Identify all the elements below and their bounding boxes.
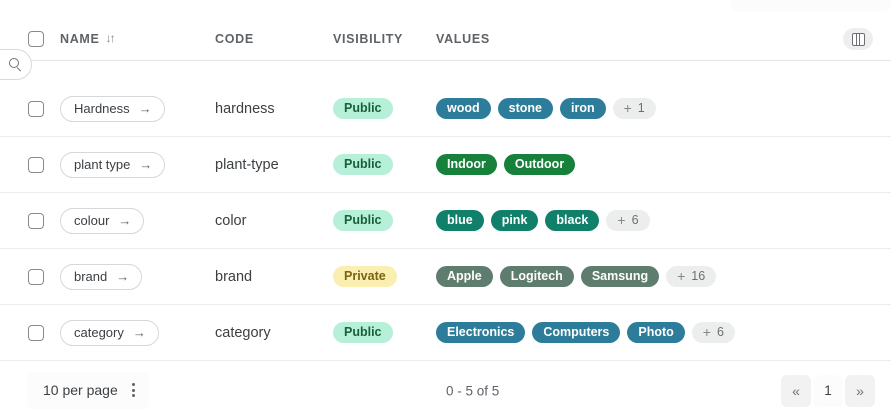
value-tag[interactable]: pink (491, 210, 539, 231)
more-values-chip[interactable]: +6 (606, 210, 649, 231)
name-chip-label: category (74, 325, 124, 340)
plus-icon: + (624, 101, 632, 115)
more-values-count: 6 (632, 213, 639, 227)
columns-icon (852, 33, 865, 46)
header-label-visibility: VISIBILITY (333, 32, 403, 46)
row-select-cell (0, 157, 60, 173)
value-tag[interactable]: iron (560, 98, 606, 119)
value-tag[interactable]: Outdoor (504, 154, 575, 175)
cell-name: Hardness→ (60, 96, 215, 122)
arrow-right-icon: → (116, 270, 129, 283)
row-select-cell (0, 269, 60, 285)
name-chip-button[interactable]: colour→ (60, 208, 144, 234)
header-label-name: NAME (60, 32, 100, 46)
cell-values: ElectronicsComputersPhoto+6 (436, 322, 891, 343)
table-row[interactable]: plant type→plant-typePublicIndoorOutdoor (0, 137, 891, 193)
cell-values: woodstoneiron+1 (436, 98, 891, 119)
visibility-badge: Public (333, 322, 393, 343)
more-values-chip[interactable]: +16 (666, 266, 716, 287)
cell-name: plant type→ (60, 152, 215, 178)
search-strip (0, 60, 891, 81)
row-checkbox[interactable] (28, 101, 44, 117)
row-select-cell (0, 213, 60, 229)
more-values-count: 1 (638, 101, 645, 115)
arrow-right-icon: → (139, 158, 152, 171)
header-select-all-cell (0, 31, 60, 47)
table-header: NAME ↓↑ CODE VISIBILITY VALUES (0, 0, 891, 60)
per-page-label: 10 per page (43, 382, 118, 398)
cell-visibility: Public (333, 154, 436, 175)
arrow-right-icon: → (118, 214, 131, 227)
cell-name: category→ (60, 320, 215, 346)
header-cell-name[interactable]: NAME ↓↑ (60, 30, 215, 48)
cell-values: bluepinkblack+6 (436, 210, 891, 231)
cell-code: plant-type (215, 157, 333, 173)
cell-code: hardness (215, 101, 333, 117)
name-chip-button[interactable]: brand→ (60, 264, 142, 290)
header-label-code: CODE (215, 32, 254, 46)
search-icon (9, 58, 22, 71)
cell-code: category (215, 325, 333, 341)
value-tag[interactable]: stone (498, 98, 553, 119)
pagination: «1» (781, 375, 875, 407)
more-values-count: 16 (691, 269, 705, 283)
value-tag[interactable]: Logitech (500, 266, 574, 287)
name-chip-label: Hardness (74, 101, 130, 116)
row-checkbox[interactable] (28, 325, 44, 341)
table-footer: 10 per page 0 - 5 of 5 «1» (0, 361, 891, 420)
cell-values: AppleLogitechSamsung+16 (436, 266, 891, 287)
table-row[interactable]: brand→brandPrivateAppleLogitechSamsung+1… (0, 249, 891, 305)
value-tag[interactable]: black (545, 210, 599, 231)
plus-icon: + (617, 213, 625, 227)
header-cell-visibility[interactable]: VISIBILITY (333, 30, 436, 48)
value-tag[interactable]: Photo (627, 322, 684, 343)
arrow-right-icon: → (133, 326, 146, 339)
cell-name: brand→ (60, 264, 215, 290)
name-chip-button[interactable]: plant type→ (60, 152, 165, 178)
more-values-count: 6 (717, 325, 724, 339)
name-chip-button[interactable]: category→ (60, 320, 159, 346)
name-chip-label: plant type (74, 157, 130, 172)
table-row[interactable]: category→categoryPublicElectronicsComput… (0, 305, 891, 361)
plus-icon: + (677, 269, 685, 283)
name-chip-button[interactable]: Hardness→ (60, 96, 165, 122)
header-cell-values[interactable]: VALUES (436, 30, 891, 48)
pagination-prev-button[interactable]: « (781, 375, 811, 407)
value-tag[interactable]: wood (436, 98, 491, 119)
plus-icon: + (703, 325, 711, 339)
visibility-badge: Public (333, 210, 393, 231)
per-page-selector[interactable]: 10 per page (27, 372, 149, 409)
table-row[interactable]: Hardness→hardnessPublicwoodstoneiron+1 (0, 81, 891, 137)
cell-name: colour→ (60, 208, 215, 234)
value-tag[interactable]: Samsung (581, 266, 659, 287)
row-select-cell (0, 325, 60, 341)
table-row[interactable]: colour→colorPublicbluepinkblack+6 (0, 193, 891, 249)
value-tag[interactable]: blue (436, 210, 484, 231)
cell-visibility: Public (333, 322, 436, 343)
results-range-label: 0 - 5 of 5 (446, 383, 499, 398)
pagination-next-button[interactable]: » (845, 375, 875, 407)
table-body: Hardness→hardnessPublicwoodstoneiron+1pl… (0, 81, 891, 361)
arrow-right-icon: → (139, 102, 152, 115)
visibility-badge: Private (333, 266, 397, 287)
row-checkbox[interactable] (28, 157, 44, 173)
select-all-checkbox[interactable] (28, 31, 44, 47)
header-cell-code[interactable]: CODE (215, 30, 333, 48)
columns-toggle-button[interactable] (843, 28, 873, 50)
visibility-badge: Public (333, 154, 393, 175)
cell-visibility: Public (333, 210, 436, 231)
pagination-page1-button[interactable]: 1 (813, 375, 843, 407)
value-tag[interactable]: Apple (436, 266, 493, 287)
value-tag[interactable]: Electronics (436, 322, 525, 343)
sort-toggle-icon[interactable]: ↓↑ (106, 31, 114, 45)
header-tools (843, 28, 873, 50)
cell-code: brand (215, 269, 333, 285)
name-chip-label: colour (74, 213, 109, 228)
row-checkbox[interactable] (28, 213, 44, 229)
value-tag[interactable]: Indoor (436, 154, 497, 175)
attributes-table: NAME ↓↑ CODE VISIBILITY VALUES Har (0, 0, 891, 420)
cell-values: IndoorOutdoor (436, 154, 891, 175)
cell-visibility: Public (333, 98, 436, 119)
row-select-cell (0, 101, 60, 117)
visibility-badge: Public (333, 98, 393, 119)
name-chip-label: brand (74, 269, 107, 284)
kebab-menu-icon[interactable] (132, 383, 135, 397)
more-values-chip[interactable]: +1 (613, 98, 656, 119)
cell-visibility: Private (333, 266, 436, 287)
search-button[interactable] (0, 49, 32, 80)
cell-code: color (215, 213, 333, 229)
header-label-values: VALUES (436, 32, 490, 46)
row-checkbox[interactable] (28, 269, 44, 285)
more-values-chip[interactable]: +6 (692, 322, 735, 343)
value-tag[interactable]: Computers (532, 322, 620, 343)
